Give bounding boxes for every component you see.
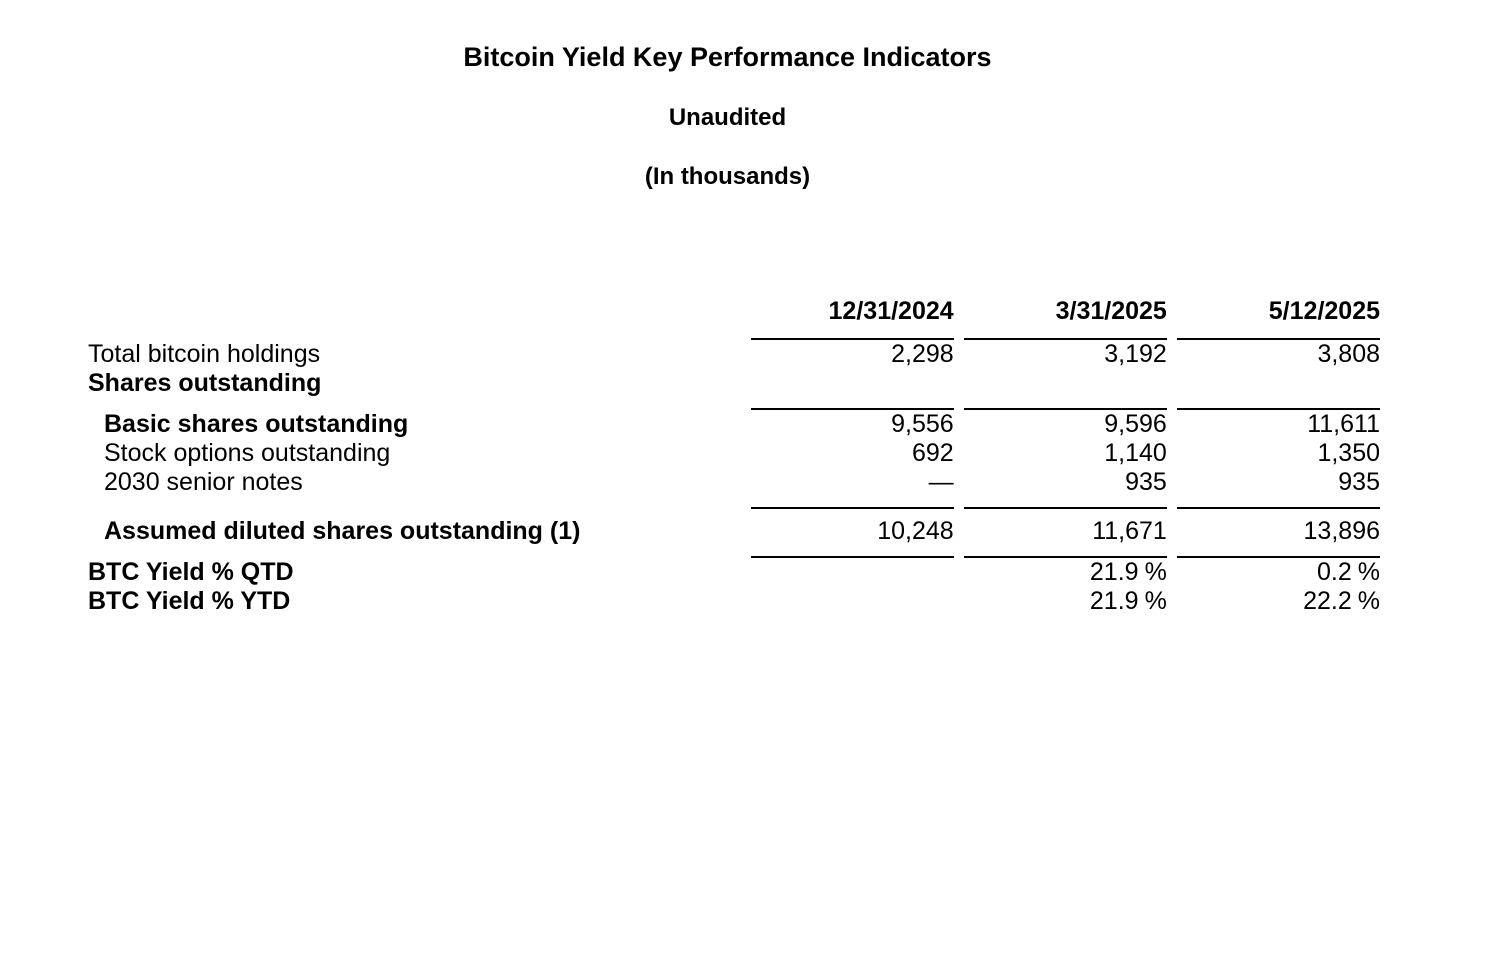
table-header: 12/31/2024 3/31/2025 5/12/2025 bbox=[88, 297, 1380, 340]
percent-sign: % bbox=[1358, 587, 1380, 615]
header-rule-1 bbox=[741, 326, 954, 340]
kpi-table: 12/31/2024 3/31/2025 5/12/2025 Total bit… bbox=[88, 297, 1380, 616]
cell-basic-shares-c2: 9,596 bbox=[954, 410, 1167, 439]
value: 21.9 bbox=[1090, 587, 1139, 615]
table-row: Shares outstanding bbox=[88, 369, 1380, 398]
page-subtitle: Unaudited bbox=[0, 106, 1455, 130]
section-rule-spacer bbox=[88, 398, 741, 410]
cell-stock-options-c2: 1,140 bbox=[954, 439, 1167, 468]
row-label-2030-senior-notes: 2030 senior notes bbox=[88, 468, 741, 497]
page-units-note: (In thousands) bbox=[0, 165, 1455, 189]
cell-2030-notes-c2: 935 bbox=[954, 468, 1167, 497]
row-label-btc-yield-ytd: BTC Yield % YTD bbox=[88, 587, 741, 616]
subtotal-rule-bottom-1 bbox=[741, 546, 954, 558]
subtotal-rule-top-2 bbox=[954, 497, 1167, 509]
column-header-1: 12/31/2024 bbox=[741, 297, 954, 326]
table-row: 2030 senior notes — 935 935 bbox=[88, 468, 1380, 497]
header-rule-row bbox=[88, 326, 1380, 340]
table-body: Total bitcoin holdings 2,298 3,192 3,808… bbox=[88, 340, 1380, 616]
cell-btc-yield-qtd-c1 bbox=[741, 558, 954, 587]
header-rule-spacer bbox=[88, 326, 741, 340]
cell-btc-yield-ytd-c3: 22.2% bbox=[1167, 587, 1380, 616]
section-rule-2 bbox=[954, 398, 1167, 410]
cell-assumed-diluted-c3: 13,896 bbox=[1167, 509, 1380, 546]
row-label-assumed-diluted-shares: Assumed diluted shares outstanding (1) bbox=[88, 509, 741, 546]
cell-btc-yield-ytd-c2: 21.9% bbox=[954, 587, 1167, 616]
value: 21.9 bbox=[1090, 558, 1139, 586]
row-label-btc-yield-qtd: BTC Yield % QTD bbox=[88, 558, 741, 587]
row-label-shares-outstanding: Shares outstanding bbox=[88, 369, 741, 398]
header-row: 12/31/2024 3/31/2025 5/12/2025 bbox=[88, 297, 1380, 326]
cell-basic-shares-c3: 11,611 bbox=[1167, 410, 1380, 439]
cell-basic-shares-c1: 9,556 bbox=[741, 410, 954, 439]
subtotal-rule-top-spacer bbox=[88, 497, 741, 509]
cell-btc-yield-ytd-c1 bbox=[741, 587, 954, 616]
subtotal-rule-bottom-3 bbox=[1167, 546, 1380, 558]
kpi-table-wrapper: 12/31/2024 3/31/2025 5/12/2025 Total bit… bbox=[88, 297, 1380, 616]
section-rule-1 bbox=[741, 398, 954, 410]
cell-shares-outstanding-c2 bbox=[954, 369, 1167, 398]
cell-total-bitcoin-holdings-c3: 3,808 bbox=[1167, 340, 1380, 369]
document-page: Bitcoin Yield Key Performance Indicators… bbox=[0, 0, 1506, 965]
cell-btc-yield-qtd-c2: 21.9% bbox=[954, 558, 1167, 587]
title-block: Bitcoin Yield Key Performance Indicators… bbox=[0, 44, 1455, 189]
cell-stock-options-c3: 1,350 bbox=[1167, 439, 1380, 468]
table-row: Assumed diluted shares outstanding (1) 1… bbox=[88, 509, 1380, 546]
cell-stock-options-c1: 692 bbox=[741, 439, 954, 468]
cell-assumed-diluted-c1: 10,248 bbox=[741, 509, 954, 546]
section-rule-3 bbox=[1167, 398, 1380, 410]
cell-total-bitcoin-holdings-c1: 2,298 bbox=[741, 340, 954, 369]
cell-shares-outstanding-c3 bbox=[1167, 369, 1380, 398]
cell-assumed-diluted-c2: 11,671 bbox=[954, 509, 1167, 546]
table-row: Total bitcoin holdings 2,298 3,192 3,808 bbox=[88, 340, 1380, 369]
row-label-stock-options-outstanding: Stock options outstanding bbox=[88, 439, 741, 468]
cell-btc-yield-qtd-c3: 0.2% bbox=[1167, 558, 1380, 587]
subtotal-rule-row-top bbox=[88, 497, 1380, 509]
header-label-spacer bbox=[88, 297, 741, 326]
subtotal-rule-bottom-spacer bbox=[88, 546, 741, 558]
value: 22.2 bbox=[1303, 587, 1352, 615]
table-row: BTC Yield % YTD 21.9% 22.2% bbox=[88, 587, 1380, 616]
value: 0.2 bbox=[1317, 558, 1352, 586]
header-rule-2 bbox=[954, 326, 1167, 340]
cell-2030-notes-c3: 935 bbox=[1167, 468, 1380, 497]
table-row: Basic shares outstanding 9,556 9,596 11,… bbox=[88, 410, 1380, 439]
cell-shares-outstanding-c1 bbox=[741, 369, 954, 398]
row-label-basic-shares-outstanding: Basic shares outstanding bbox=[88, 410, 741, 439]
table-row: BTC Yield % QTD 21.9% 0.2% bbox=[88, 558, 1380, 587]
subtotal-rule-top-1 bbox=[741, 497, 954, 509]
section-rule-row bbox=[88, 398, 1380, 410]
row-label-total-bitcoin-holdings: Total bitcoin holdings bbox=[88, 340, 741, 369]
percent-sign: % bbox=[1358, 558, 1380, 586]
percent-sign: % bbox=[1145, 558, 1167, 586]
subtotal-rule-top-3 bbox=[1167, 497, 1380, 509]
percent-sign: % bbox=[1145, 587, 1167, 615]
table-row: Stock options outstanding 692 1,140 1,35… bbox=[88, 439, 1380, 468]
page-title: Bitcoin Yield Key Performance Indicators bbox=[0, 44, 1455, 71]
subtotal-rule-bottom-2 bbox=[954, 546, 1167, 558]
cell-total-bitcoin-holdings-c2: 3,192 bbox=[954, 340, 1167, 369]
column-header-3: 5/12/2025 bbox=[1167, 297, 1380, 326]
cell-2030-notes-c1: — bbox=[741, 468, 954, 497]
subtotal-rule-row-bottom bbox=[88, 546, 1380, 558]
column-header-2: 3/31/2025 bbox=[954, 297, 1167, 326]
header-rule-3 bbox=[1167, 326, 1380, 340]
